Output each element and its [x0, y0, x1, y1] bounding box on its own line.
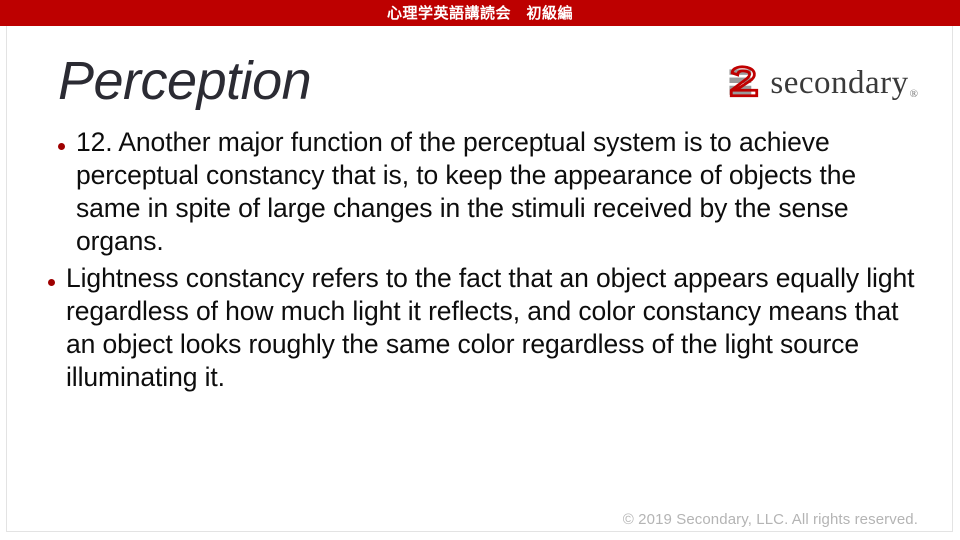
footer-copyright: © 2019 Secondary, LLC. All rights reserv…	[623, 511, 918, 528]
secondary-book-logo-icon	[724, 64, 764, 102]
list-item: 12. Another major function of the percep…	[46, 126, 926, 258]
header-title: 心理学英語講読会 初級編	[387, 0, 573, 26]
bullet-dot-icon	[58, 126, 74, 161]
list-item-text: 12. Another major function of the percep…	[74, 126, 926, 258]
list-item: Lightness constancy refers to the fact t…	[46, 262, 926, 394]
bullet-dot-icon	[48, 262, 64, 297]
list-item-text: Lightness constancy refers to the fact t…	[64, 262, 926, 394]
header-bar: 心理学英語講読会 初級編	[0, 0, 960, 26]
presentation-slide: 心理学英語講読会 初級編 Perception secondary ® 12. …	[0, 0, 960, 540]
page-title: Perception	[58, 50, 311, 112]
registered-trademark-icon: ®	[910, 88, 918, 104]
brand-logo: secondary ®	[724, 62, 918, 104]
slide-body: 12. Another major function of the percep…	[46, 126, 926, 398]
logo-wordmark: secondary	[770, 66, 908, 100]
